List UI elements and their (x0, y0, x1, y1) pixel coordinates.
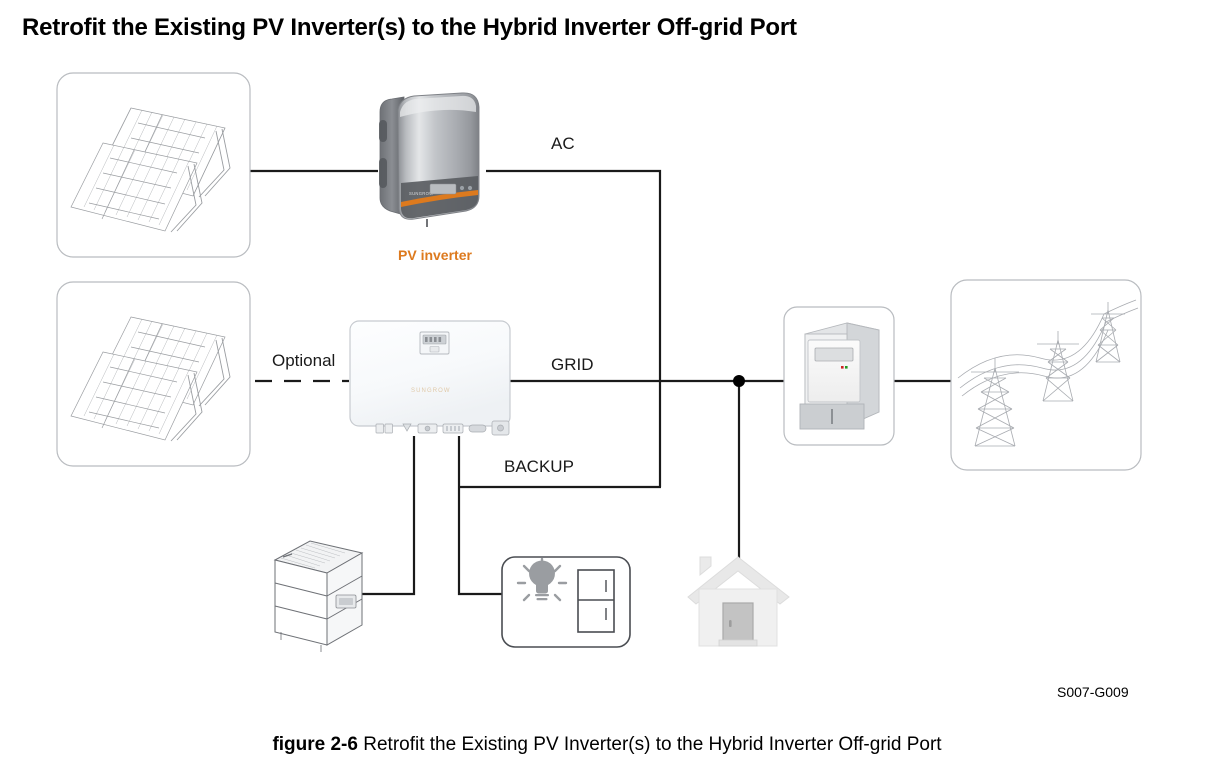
label-optional: Optional (272, 351, 335, 371)
diagram-canvas: SUNGROW PV inverter SUNGROW (0, 0, 1214, 783)
pv-panel-array-bottom (57, 282, 250, 466)
pv-inverter-device: SUNGROW (379, 93, 479, 227)
figure-caption-text: Retrofit the Existing PV Inverter(s) to … (363, 734, 941, 755)
drawing-id: S007-G009 (1057, 684, 1129, 700)
hybrid-inverter-display (420, 332, 449, 354)
label-backup: BACKUP (504, 457, 574, 477)
battery-stack (275, 541, 362, 652)
refrigerator-icon (578, 570, 614, 632)
utility-grid-box (951, 280, 1141, 470)
house-icon (688, 557, 789, 646)
figure-caption: figure 2-6 Retrofit the Existing PV Inve… (0, 734, 1214, 756)
link-pv-inverter-ac (486, 171, 660, 487)
energy-meter-box (784, 307, 894, 445)
grid-junction-dot (733, 375, 745, 387)
label-grid: GRID (551, 355, 594, 375)
hybrid-inverter-device: SUNGROW (350, 321, 510, 435)
label-ac: AC (551, 134, 575, 154)
pv-inverter-label: PV inverter (398, 247, 472, 263)
pv-panel-array-top (57, 73, 250, 257)
figure-caption-number: figure 2-6 (272, 734, 358, 755)
link-hybrid-backup (459, 436, 502, 594)
svg-text:SUNGROW: SUNGROW (411, 388, 451, 394)
link-hybrid-battery (362, 436, 414, 594)
household-loads-box (502, 557, 630, 647)
